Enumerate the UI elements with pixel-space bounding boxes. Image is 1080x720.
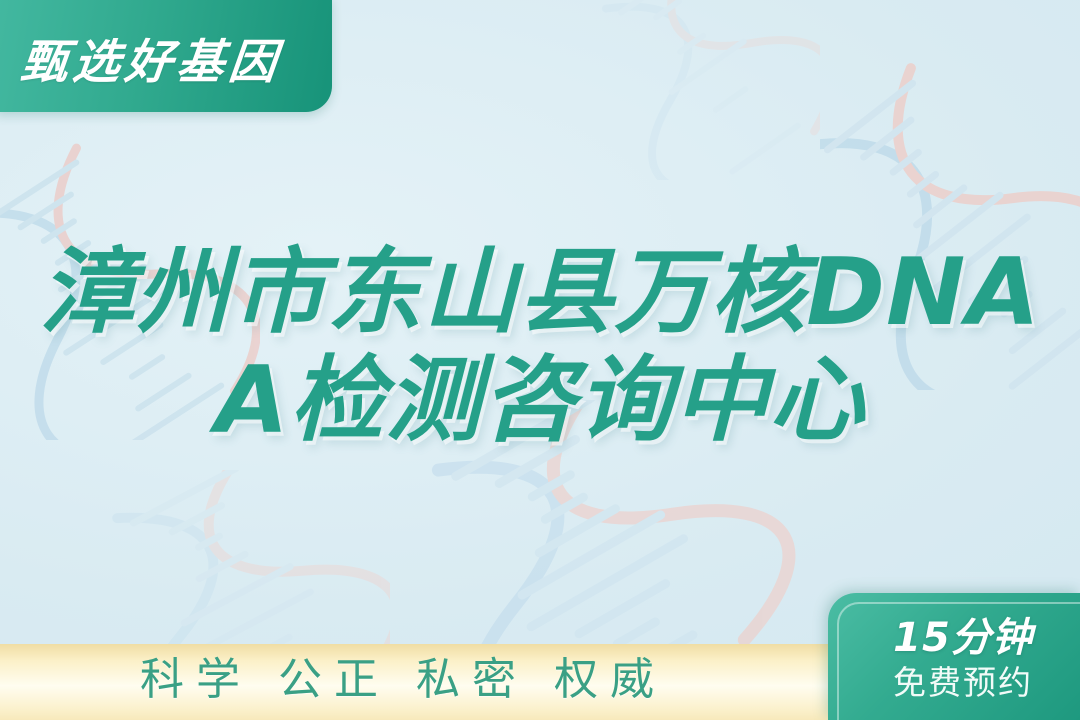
- page-title-line-1: 漳州市东山县万核DNA: [28, 238, 1052, 346]
- cta-content: 15分钟 免费预约: [828, 593, 1080, 720]
- page-title-line-2: A检测咨询中心: [28, 346, 1052, 454]
- brand-badge-label: 甄选好基因: [0, 17, 286, 92]
- dna-helix-icon: [600, 0, 820, 180]
- brand-badge: 甄选好基因: [0, 0, 332, 112]
- cta-headline: 15分钟: [893, 615, 1033, 661]
- tagline-text: 科学 公正 私密 权威: [0, 658, 666, 706]
- cta-subtext: 免费预约: [893, 663, 1033, 703]
- poster-canvas: 甄选好基因 漳州市东山县万核DNA A检测咨询中心 科学 公正 私密 权威 15…: [0, 0, 1080, 720]
- page-title: 漳州市东山县万核DNA A检测咨询中心: [0, 238, 1080, 454]
- free-appointment-cta-card[interactable]: 15分钟 免费预约: [828, 593, 1080, 720]
